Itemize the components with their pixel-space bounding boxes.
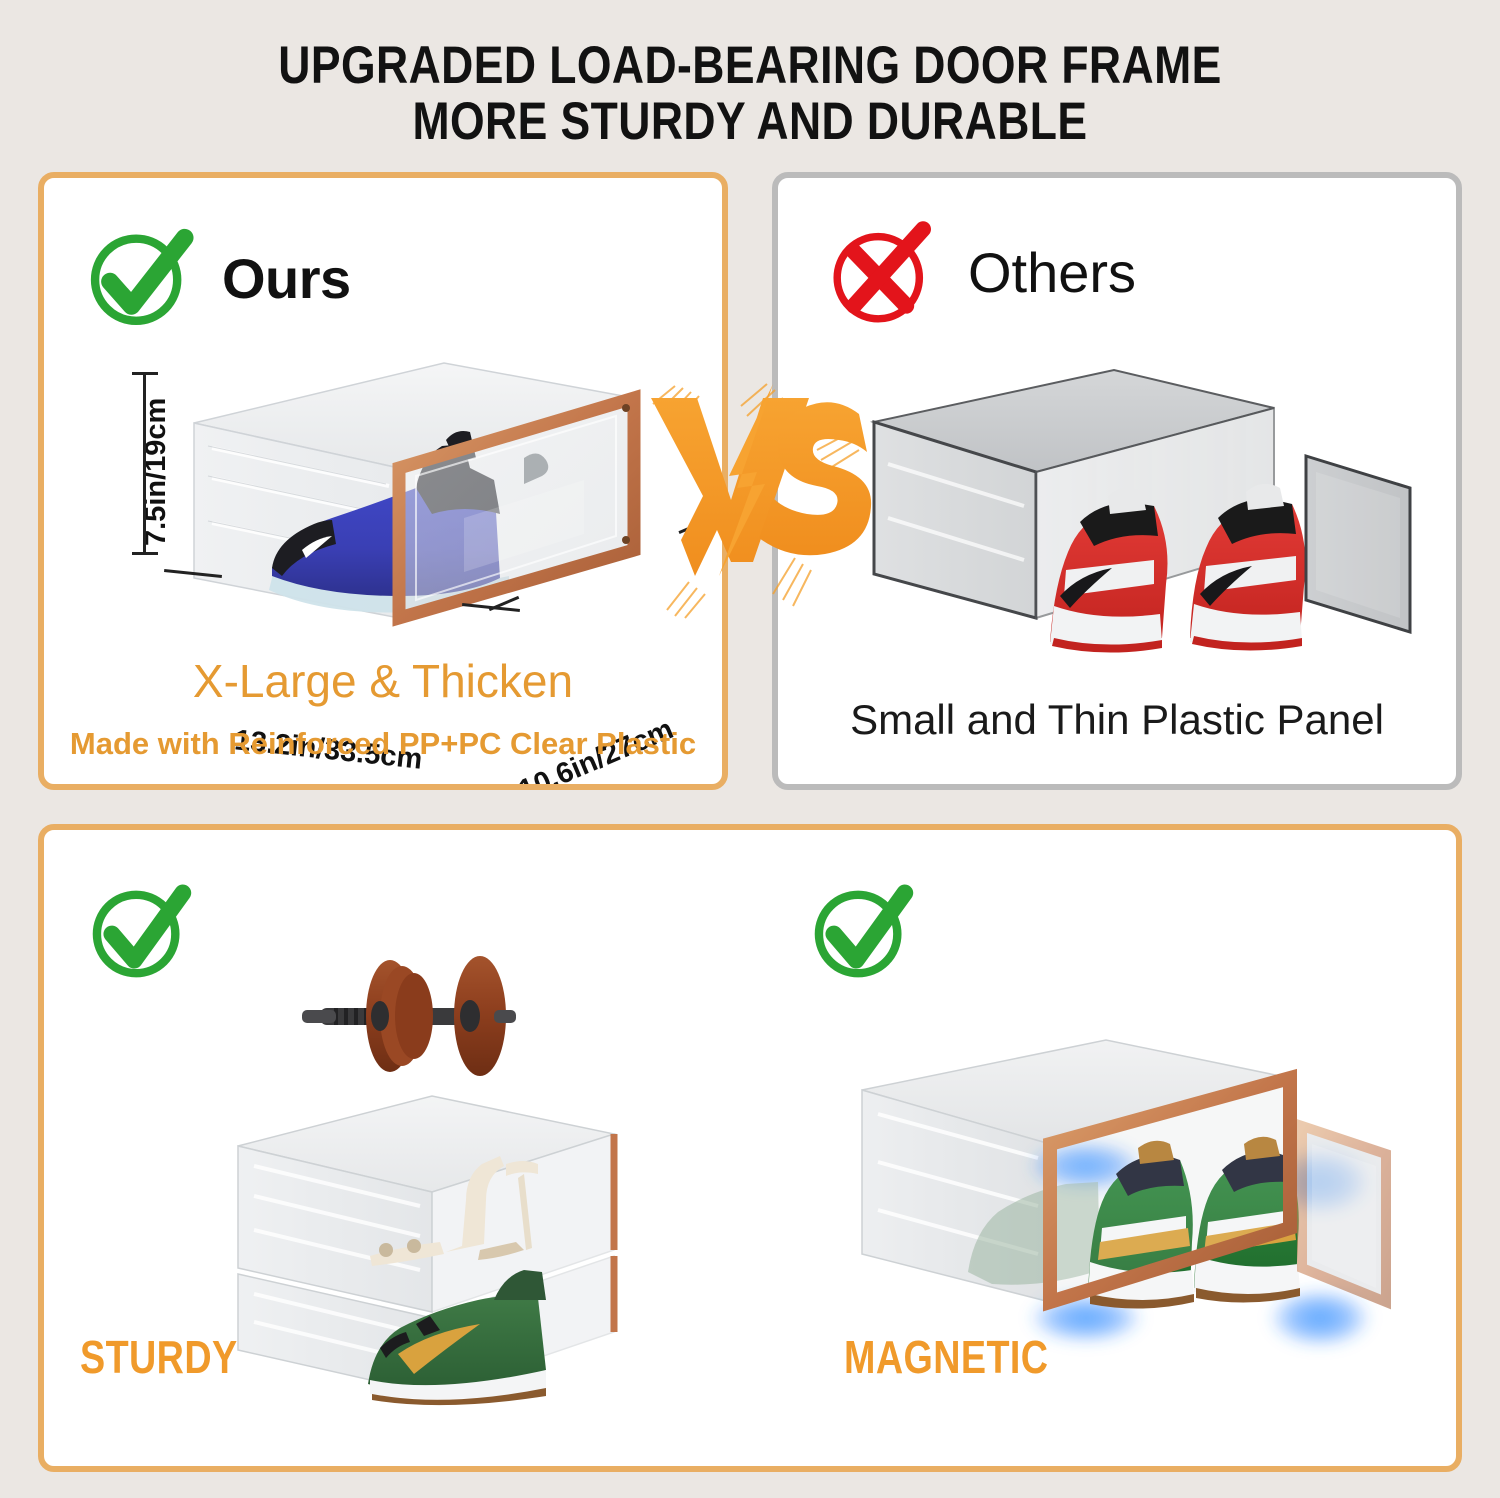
feature-panel-bottom: STURDY	[38, 824, 1462, 1472]
product-image-others-box	[854, 346, 1454, 676]
red-cross-circle-icon	[826, 218, 938, 330]
panel-label-others: Others	[968, 240, 1136, 305]
product-image-magnetic-box	[850, 1006, 1430, 1386]
comparison-panel-others: Others	[772, 172, 1462, 790]
title-line-1: UPGRADED LOAD-BEARING DOOR FRAME	[120, 38, 1380, 94]
product-image-sturdy-stack	[194, 950, 774, 1410]
feature-tag-magnetic: MAGNETIC	[844, 1330, 1048, 1384]
green-check-circle-icon	[804, 878, 916, 990]
feature-tag-sturdy: STURDY	[80, 1330, 238, 1384]
caption-main-ours: X-Large & Thicken	[44, 654, 722, 708]
green-check-circle-icon	[82, 878, 194, 990]
green-check-circle-icon	[82, 220, 194, 332]
panel-label-ours: Ours	[222, 246, 351, 311]
dimension-line	[143, 372, 146, 554]
caption-sub-ours: Made with Reinforced PP+PC Clear Plastic	[44, 726, 722, 762]
title-line-2: MORE STURDY AND DURABLE	[120, 94, 1380, 150]
page-title: UPGRADED LOAD-BEARING DOOR FRAME MORE ST…	[0, 38, 1500, 150]
caption-main-others: Small and Thin Plastic Panel	[778, 696, 1456, 744]
comparison-panel-ours: Ours	[38, 172, 728, 790]
product-image-ours-box	[164, 328, 684, 658]
